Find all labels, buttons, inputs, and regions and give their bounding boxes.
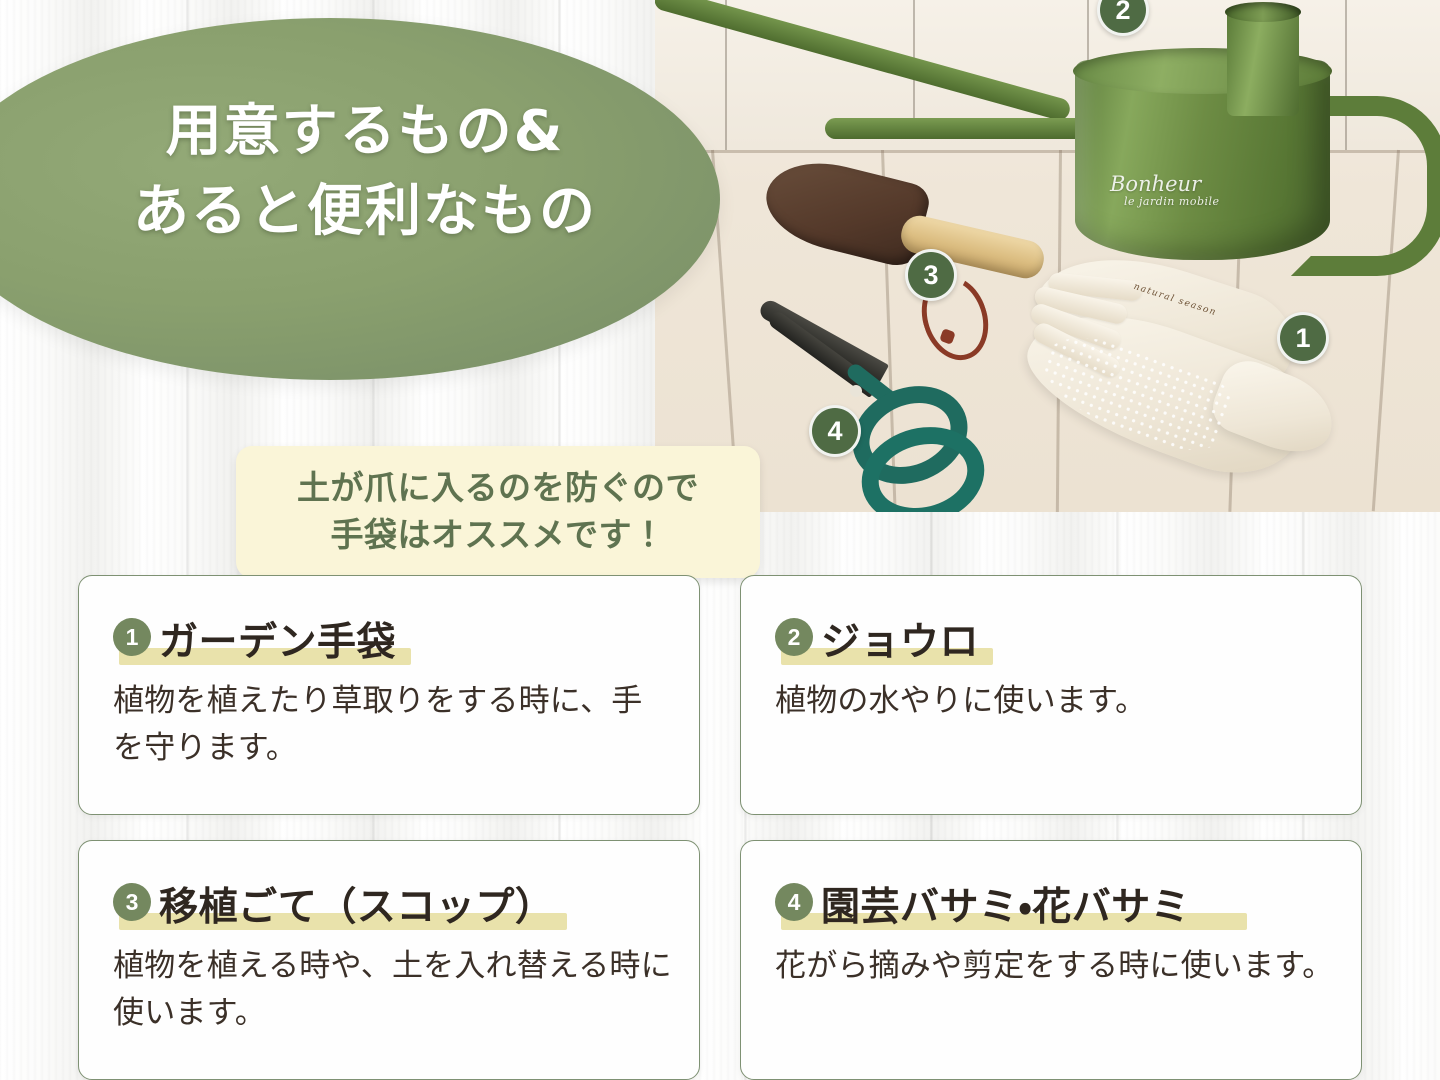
- scissors-blade-upper: [757, 297, 889, 382]
- infographic-root: Bonheur le jardin mobile: [0, 0, 1440, 1080]
- watering-can-brand: Bonheur le jardin mobile: [1110, 172, 1280, 209]
- brand-line-1: Bonheur: [1110, 172, 1280, 196]
- card-badge-3: 3: [113, 883, 151, 921]
- card-title-1: ガーデン手袋: [159, 611, 396, 667]
- brand-line-2: le jardin mobile: [1124, 196, 1280, 209]
- tip-callout: 土が爪に入るのを防ぐので 手袋はオススメです！: [236, 446, 760, 578]
- photo-badge-1-gloves: 1: [1277, 312, 1329, 364]
- trowel-blade: [757, 150, 933, 270]
- item-card-3: 3 移植ごて（スコップ） 植物を植える時や、土を入れ替える時に使います。: [78, 840, 700, 1080]
- card-badge-4: 4: [775, 883, 813, 921]
- tip-line-2: 手袋はオススメです！: [331, 512, 666, 559]
- card-header: 2 ジョウロ: [775, 612, 1341, 664]
- gardening-tools-photo: Bonheur le jardin mobile: [655, 0, 1440, 512]
- tip-line-1: 土が爪に入るのを防ぐので: [297, 465, 699, 512]
- card-badge-2: 2: [775, 618, 813, 656]
- item-card-4: 4 園芸バサミ・花バサミ 花がら摘みや剪定をする時に使います。: [740, 840, 1362, 1080]
- photo-badge-3-trowel: 3: [905, 249, 957, 301]
- item-card-2: 2 ジョウロ 植物の水やりに使います。: [740, 575, 1362, 815]
- card-body-4: 花がら摘みや剪定をする時に使います。: [775, 943, 1335, 990]
- card-body-1: 植物を植えたり草取りをする時に、手を守ります。: [113, 678, 673, 772]
- item-card-1: 1 ガーデン手袋 植物を植えたり草取りをする時に、手を守ります。: [78, 575, 700, 815]
- scissors-pivot: [850, 385, 862, 397]
- card-badge-1: 1: [113, 618, 151, 656]
- card-title-2: ジョウロ: [821, 611, 979, 667]
- watering-can-neck: [1227, 8, 1299, 116]
- card-header: 4 園芸バサミ・花バサミ: [775, 877, 1341, 929]
- watering-can-neck-opening: [1225, 2, 1301, 22]
- card-title-3: 移植ごて（スコップ）: [159, 876, 554, 932]
- card-body-2: 植物の水やりに使います。: [775, 678, 1335, 725]
- photo-badge-4-scissors: 4: [809, 405, 861, 457]
- card-header: 1 ガーデン手袋: [113, 612, 679, 664]
- page-title-line-1: 用意するもの&: [40, 92, 690, 172]
- card-body-3: 植物を植える時や、土を入れ替える時に使います。: [113, 943, 673, 1037]
- tip-callout-text: 土が爪に入るのを防ぐので 手袋はオススメです！: [236, 446, 760, 578]
- card-header: 3 移植ごて（スコップ）: [113, 877, 679, 929]
- card-title-4: 園芸バサミ・花バサミ: [821, 876, 1190, 932]
- page-title-line-2: あると便利なもの: [40, 172, 690, 252]
- page-title: 用意するもの& あると便利なもの: [40, 92, 690, 251]
